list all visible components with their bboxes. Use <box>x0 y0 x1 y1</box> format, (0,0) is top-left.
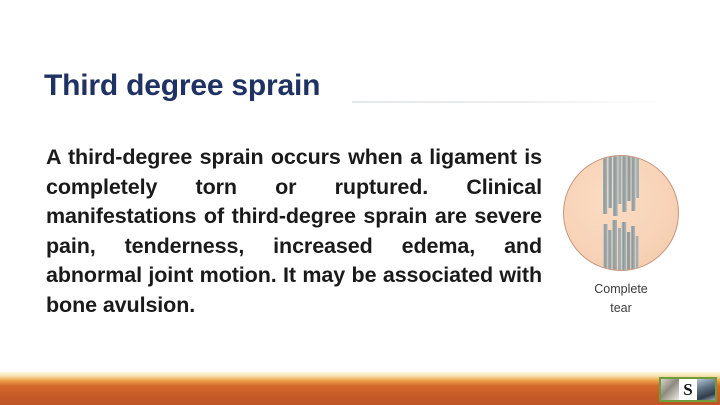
figure-caption: Complete tear <box>556 280 686 318</box>
footer-badge: S <box>659 377 717 402</box>
slide-canvas: Third degree sprain A third-degree sprai… <box>0 0 720 405</box>
footer-bar: S <box>0 372 720 405</box>
figure-complete-tear: Complete tear <box>556 155 686 318</box>
page-title: Third degree sprain <box>44 68 320 104</box>
badge-letter: S <box>679 379 697 400</box>
figure-caption-line-1: Complete <box>556 280 686 299</box>
title-underline-rule <box>352 101 666 103</box>
body-paragraph: A third-degree sprain occurs when a liga… <box>46 143 542 320</box>
title-row: Third degree sprain <box>0 68 720 112</box>
ligament-fibers-icon <box>564 156 678 270</box>
badge-thumbnail-right-icon <box>697 379 715 400</box>
badge-thumbnail-left-icon <box>661 379 679 400</box>
torn-ligament-illustration <box>563 155 679 271</box>
figure-caption-line-2: tear <box>556 299 686 318</box>
